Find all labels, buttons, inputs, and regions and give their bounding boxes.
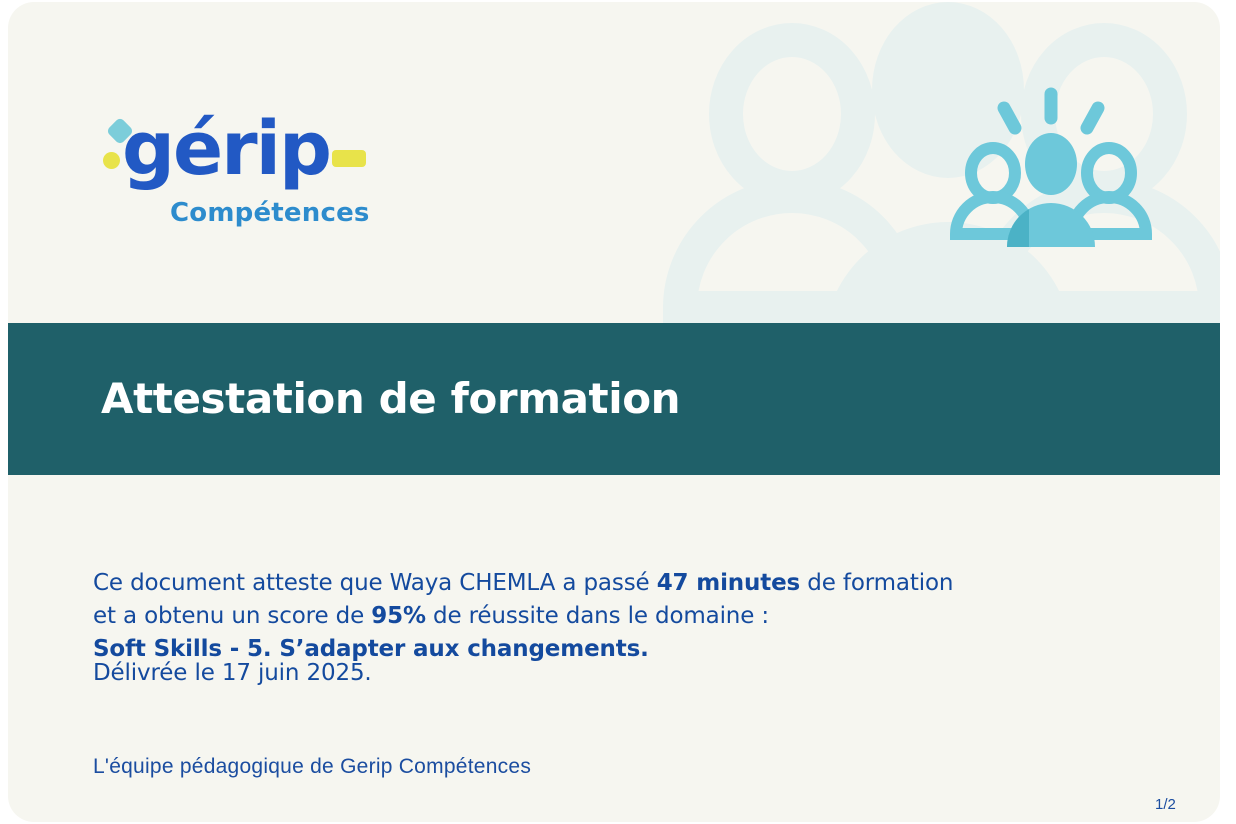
certificate-card: gérip Compétences (8, 2, 1220, 822)
score-value: 95% (371, 603, 426, 629)
issue-date: Délivrée le 17 juin 2025. (93, 657, 372, 690)
statement-line1-suffix: de formation (800, 570, 953, 596)
logo-wordmark: gérip (122, 106, 330, 192)
duration-value: 47 minutes (657, 570, 800, 596)
statement-line2-suffix: de réussite dans le domaine : (426, 603, 769, 629)
logo-subtitle: Compétences (170, 198, 370, 228)
page-title: Attestation de formation (101, 373, 680, 425)
statement-line1-prefix: Ce document atteste que Waya CHEMLA a pa… (93, 570, 657, 596)
logo-dash-icon (332, 150, 366, 167)
signoff-text: L'équipe pédagogique de Gerip Compétence… (93, 753, 531, 781)
statement-line2-prefix: et a obtenu un score de (93, 603, 371, 629)
logo-dot-icon (103, 152, 120, 169)
gerip-logo: gérip Compétences (100, 106, 370, 231)
certificate-header: gérip Compétences (8, 2, 1220, 323)
title-band: Attestation de formation (8, 323, 1220, 475)
certificate-body: Ce document atteste que Waya CHEMLA a pa… (8, 475, 1220, 822)
people-group-icon (946, 86, 1156, 256)
attestation-statement: Ce document atteste que Waya CHEMLA a pa… (93, 567, 953, 666)
certificate-page: gérip Compétences (0, 0, 1236, 824)
page-number: 1/2 (1155, 796, 1176, 814)
